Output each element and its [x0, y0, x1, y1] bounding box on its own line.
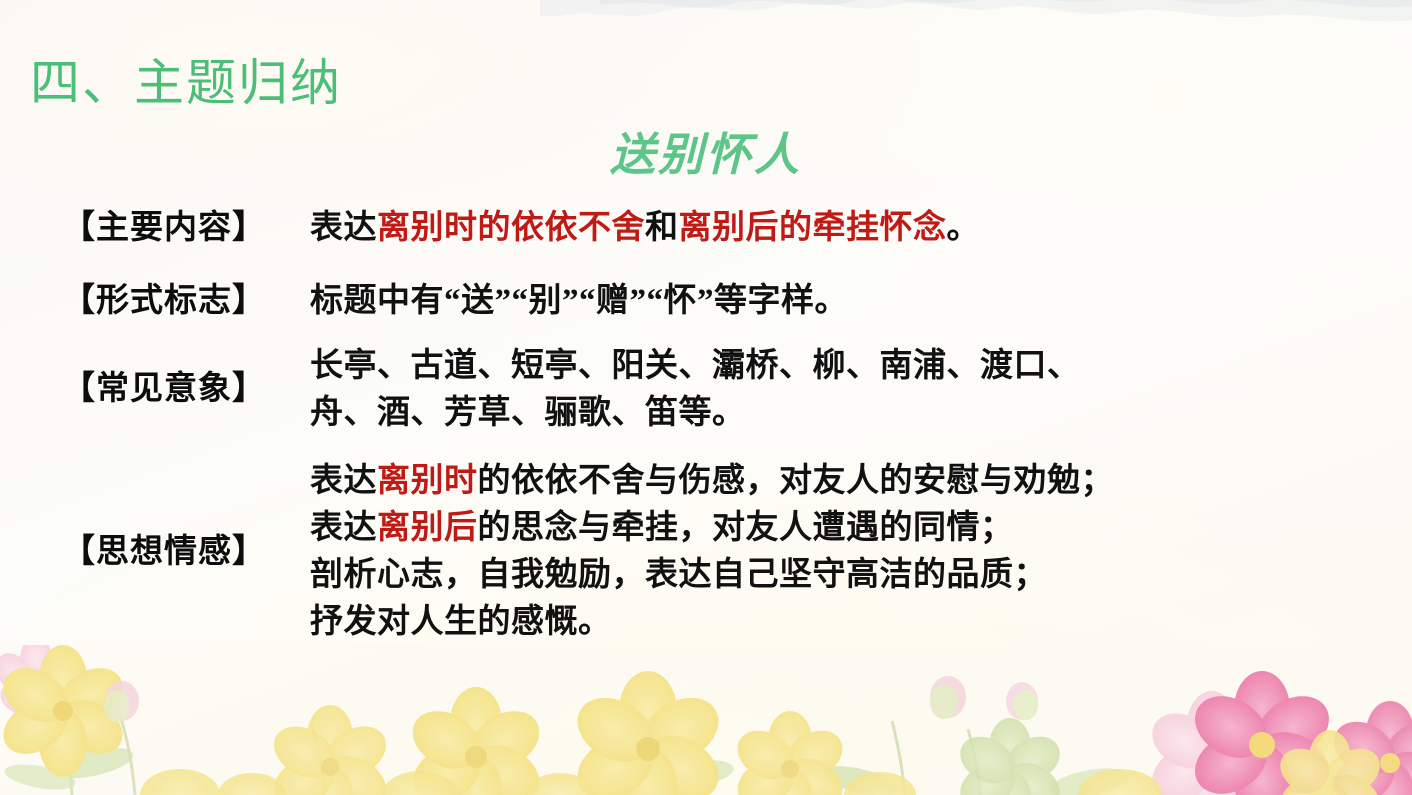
row-line: 表达离别时的依依不舍和离别后的牵挂怀念。 [310, 205, 1362, 252]
table-row-common-imagery: 【常见意象】 长亭、古道、短亭、阳关、灞桥、柳、南浦、渡口、 舟、酒、芳草、骊歌… [62, 343, 1362, 437]
row-body-thoughts-feelings: 表达离别时的依依不舍与伤感，对友人的安慰与劝勉； 表达离别后的思念与牵挂，对友人… [310, 458, 1362, 645]
text-highlight: 离别时的依依不舍 [377, 210, 645, 246]
text-plain: 表达 [310, 510, 377, 546]
text-plain: 的思念与牵挂，对友人遭遇的同情； [478, 510, 1014, 546]
row-label-main-content: 【主要内容】 [62, 206, 310, 251]
row-body-form-marks: 标题中有“送”“别”“赠”“怀”等字样。 [310, 278, 1362, 325]
text-highlight: 离别后的牵挂怀念 [679, 210, 947, 246]
bottom-floral-decoration [0, 645, 1412, 795]
text-plain: 。 [947, 210, 981, 246]
row-body-common-imagery: 长亭、古道、短亭、阳关、灞桥、柳、南浦、渡口、 舟、酒、芳草、骊歌、笛等。 [310, 343, 1362, 437]
text-plain: 的依依不舍与伤感，对友人的安慰与劝勉； [478, 463, 1115, 499]
theme-headline: 送别怀人 [0, 133, 1412, 178]
row-line: 抒发对人生的感慨。 [310, 599, 1362, 646]
text-plain: 表达 [310, 210, 377, 246]
slide-canvas: 四、主题归纳 送别怀人 【主要内容】 表达离别时的依依不舍和离别后的牵挂怀念。 … [0, 0, 1412, 795]
text-highlight: 离别时 [377, 463, 478, 499]
table-row-form-marks: 【形式标志】 标题中有“送”“别”“赠”“怀”等字样。 [62, 278, 1362, 325]
page-title: 四、主题归纳 [30, 58, 342, 108]
row-body-main-content: 表达离别时的依依不舍和离别后的牵挂怀念。 [310, 205, 1362, 252]
text-highlight: 离别后 [377, 510, 478, 546]
text-plain: 表达 [310, 463, 377, 499]
summary-table: 【主要内容】 表达离别时的依依不舍和离别后的牵挂怀念。 【形式标志】 标题中有“… [62, 205, 1362, 646]
row-label-thoughts-feelings: 【思想情感】 [62, 530, 310, 575]
row-line: 表达离别后的思念与牵挂，对友人遭遇的同情； [310, 505, 1362, 552]
table-row-main-content: 【主要内容】 表达离别时的依依不舍和离别后的牵挂怀念。 [62, 205, 1362, 252]
top-watercolor-wash [0, 0, 1412, 58]
text-plain: 和 [645, 210, 679, 246]
row-line: 表达离别时的依依不舍与伤感，对友人的安慰与劝勉； [310, 458, 1362, 505]
row-label-common-imagery: 【常见意象】 [62, 367, 310, 412]
row-line: 舟、酒、芳草、骊歌、笛等。 [310, 390, 1362, 437]
table-row-thoughts-feelings: 【思想情感】 表达离别时的依依不舍与伤感，对友人的安慰与劝勉； 表达离别后的思念… [62, 458, 1362, 645]
row-line: 剖析心志，自我勉励，表达自己坚守高洁的品质； [310, 552, 1362, 599]
row-label-form-marks: 【形式标志】 [62, 279, 310, 324]
row-line: 长亭、古道、短亭、阳关、灞桥、柳、南浦、渡口、 [310, 343, 1362, 390]
row-line: 标题中有“送”“别”“赠”“怀”等字样。 [310, 278, 1362, 325]
